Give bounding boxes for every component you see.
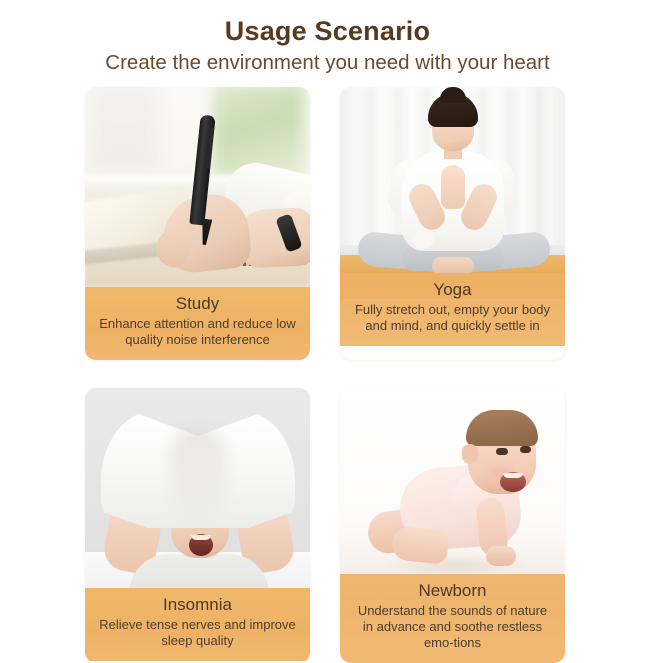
page-subtitle: Create the environment you need with you… [0, 50, 655, 76]
scenario-card-newborn[interactable]: Newborn Understand the sounds of nature … [340, 388, 565, 663]
scenario-card-grid: Study Enhance attention and reduce low q… [85, 87, 565, 663]
scenario-card-study[interactable]: Study Enhance attention and reduce low q… [85, 87, 310, 360]
insomnia-caption-desc: Relieve tense nerves and improve sleep q… [95, 617, 300, 649]
usage-scenario-page: Usage Scenario Create the environment yo… [0, 0, 655, 655]
scenario-card-insomnia[interactable]: Insomnia Relieve tense nerves and improv… [85, 388, 310, 663]
scenario-card-yoga[interactable]: Yoga Fully stretch out, empty your body … [340, 87, 565, 360]
yoga-caption: Yoga Fully stretch out, empty your body … [340, 273, 565, 346]
insomnia-photo [85, 388, 310, 588]
insomnia-caption-title: Insomnia [95, 594, 300, 616]
newborn-caption-desc: Understand the sounds of nature in advan… [350, 603, 555, 651]
yoga-caption-desc: Fully stretch out, empty your body and m… [350, 302, 555, 334]
study-caption-desc: Enhance attention and reduce low quality… [95, 316, 300, 348]
newborn-photo [340, 388, 565, 600]
insomnia-caption: Insomnia Relieve tense nerves and improv… [85, 588, 310, 661]
newborn-caption: Newborn Understand the sounds of nature … [340, 574, 565, 663]
newborn-caption-title: Newborn [350, 580, 555, 602]
study-caption-title: Study [95, 293, 300, 315]
study-caption: Study Enhance attention and reduce low q… [85, 287, 310, 360]
study-photo [85, 87, 310, 287]
yoga-photo [340, 87, 565, 299]
page-header: Usage Scenario Create the environment yo… [0, 14, 655, 76]
yoga-caption-title: Yoga [350, 279, 555, 301]
page-title: Usage Scenario [0, 14, 655, 48]
